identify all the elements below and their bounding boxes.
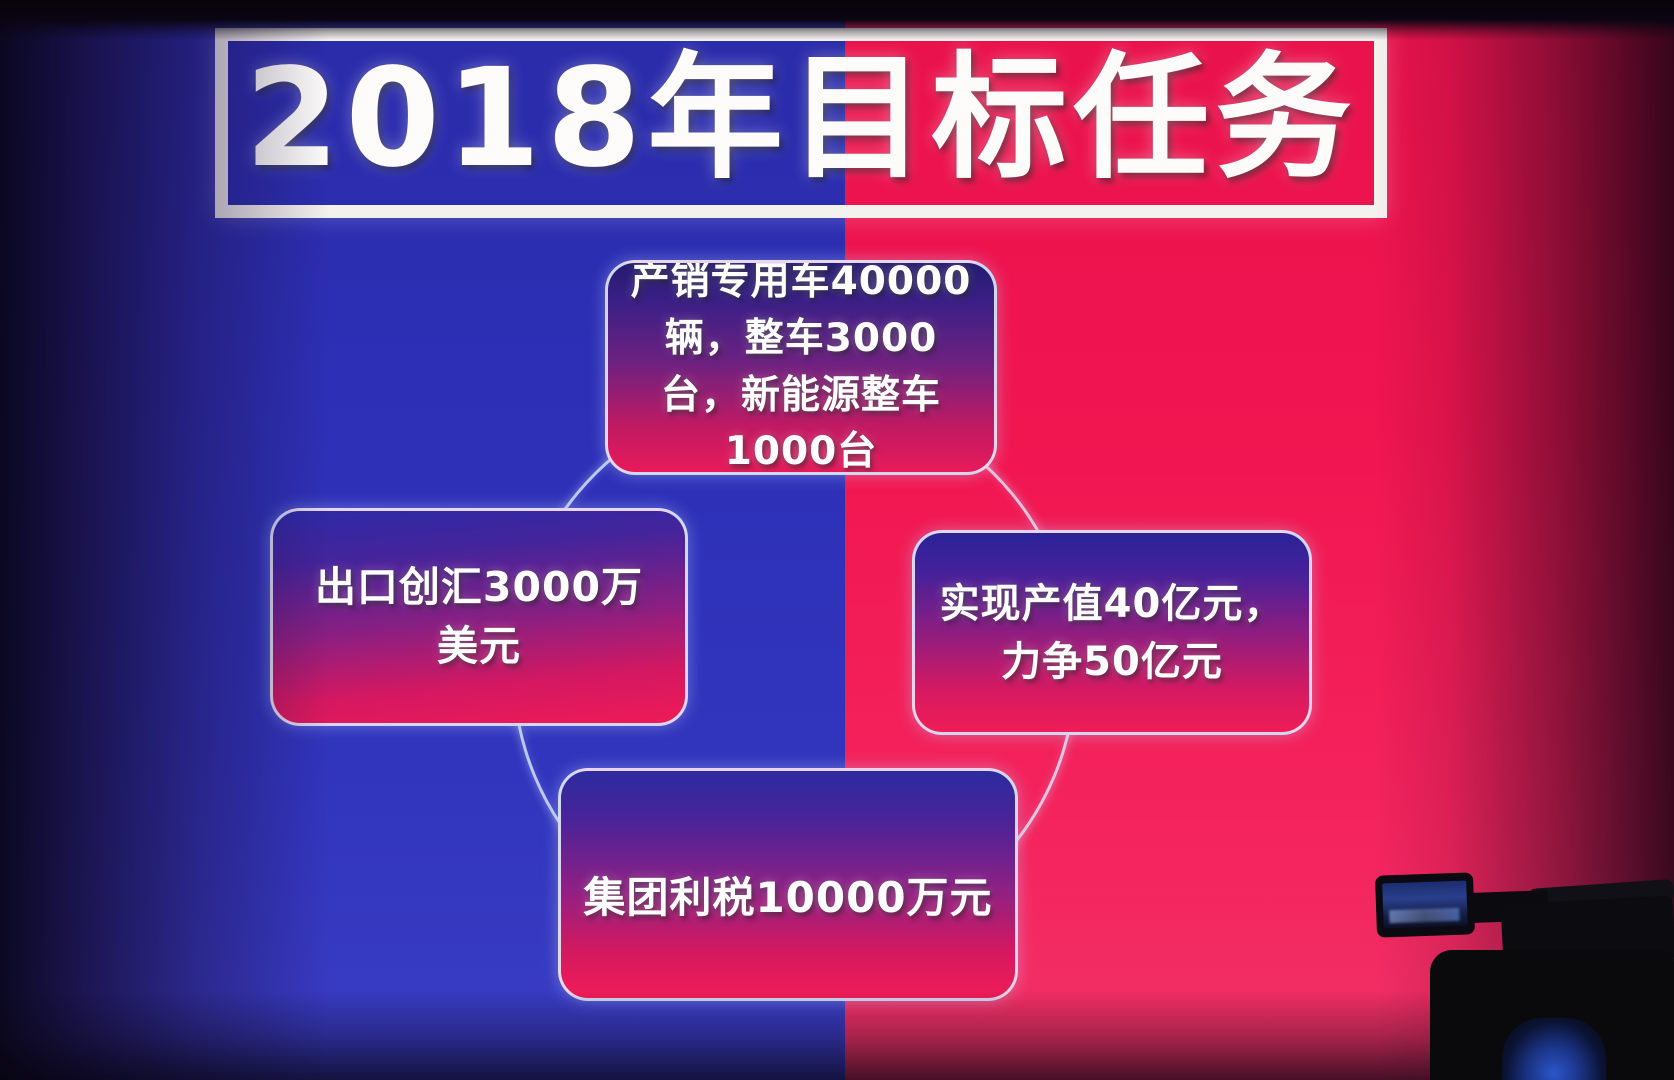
presentation-slide-photo: 2018年目标任务 产销专用车40000辆，整车3000台，新能源整车1000台…	[0, 0, 1674, 1080]
goal-card-bottom-text: 集团利税10000万元	[561, 868, 1014, 929]
slide-title-frame: 2018年目标任务	[215, 28, 1387, 218]
page-title: 2018年目标任务	[245, 51, 1358, 187]
goal-card-right-text: 实现产值40亿元，力争50亿元	[915, 575, 1309, 691]
goal-card-top: 产销专用车40000辆，整车3000台，新能源整车1000台	[605, 260, 997, 475]
slide-title-frame-inner: 2018年目标任务	[228, 41, 1374, 205]
camera-lcd-preview	[1382, 881, 1468, 929]
goal-card-bottom: 集团利税10000万元	[558, 768, 1018, 1001]
camera-flip-screen	[1375, 872, 1475, 937]
goal-card-right: 实现产值40亿元，力争50亿元	[912, 530, 1312, 735]
left-edge-vignette	[0, 0, 330, 1080]
camera-lens-icon	[1502, 1018, 1606, 1080]
video-camera-icon	[1352, 840, 1674, 1080]
goal-card-top-text: 产销专用车40000辆，整车3000台，新能源整车1000台	[608, 260, 994, 475]
goal-card-left: 出口创汇3000万美元	[270, 508, 688, 726]
goal-card-left-text: 出口创汇3000万美元	[273, 558, 685, 677]
top-edge-vignette	[0, 0, 1674, 40]
